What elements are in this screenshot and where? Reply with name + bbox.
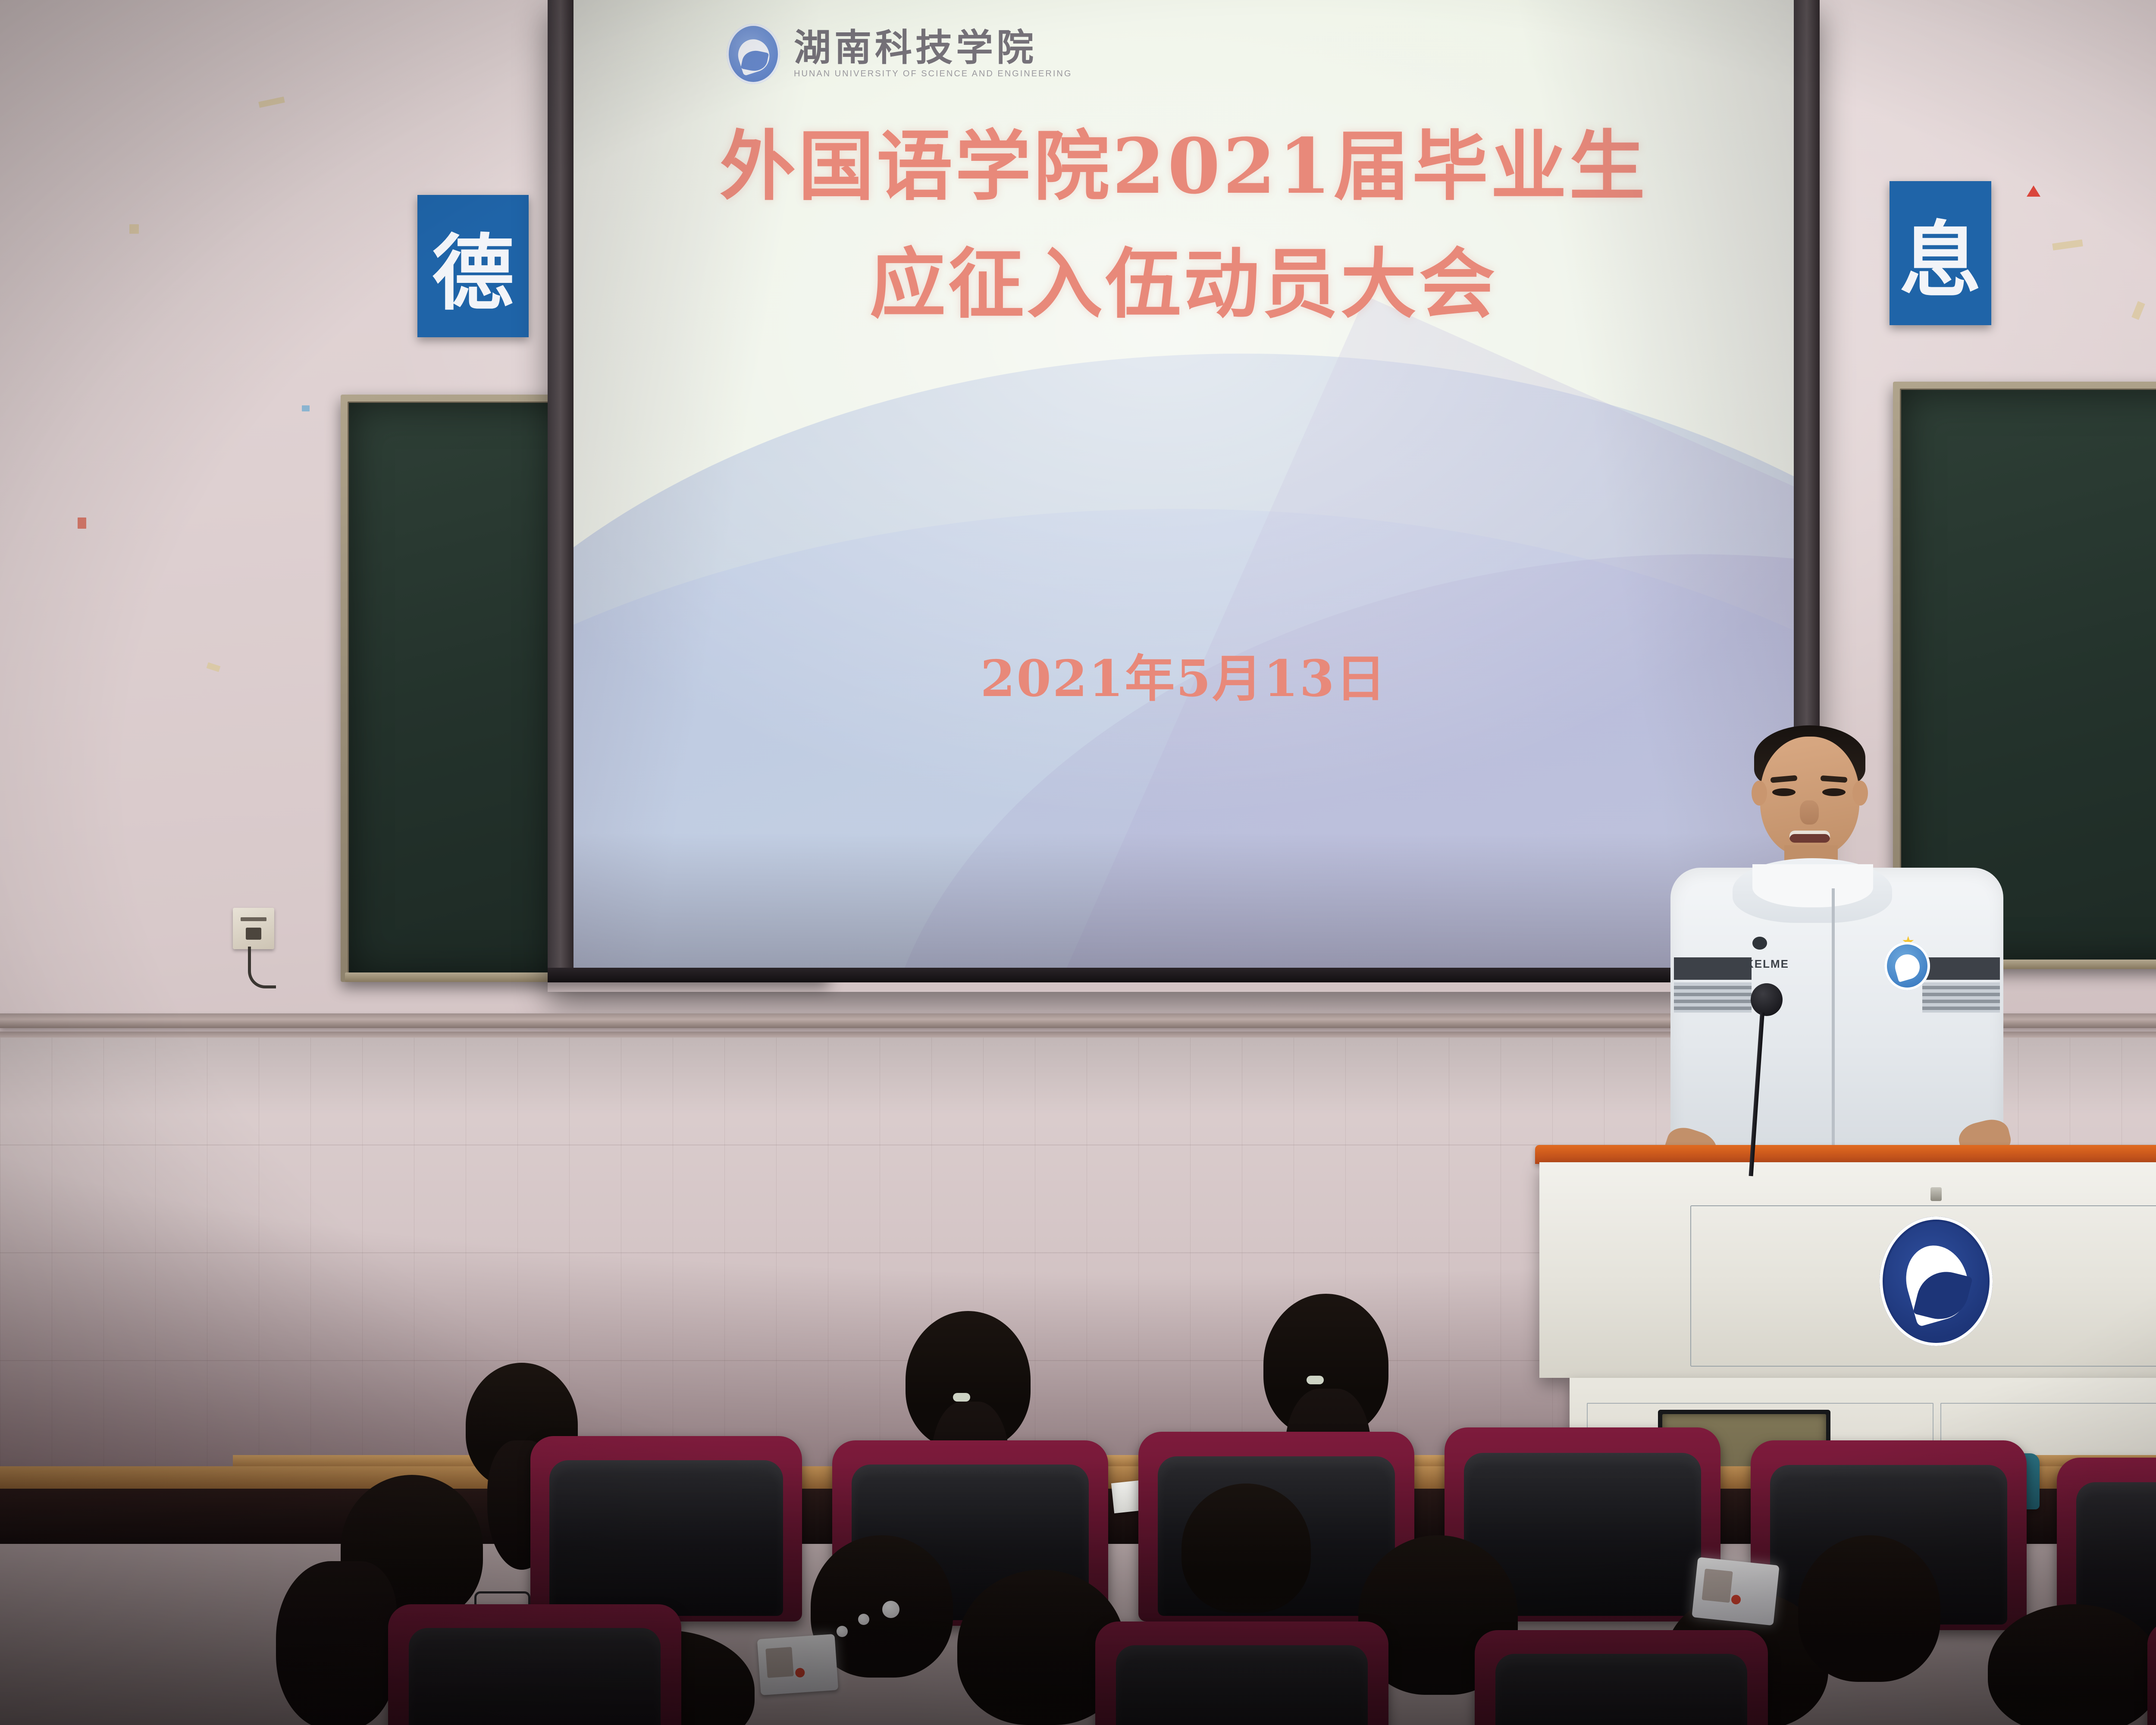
speaker-sleeve-band-right xyxy=(1922,957,2000,980)
chair-cushion xyxy=(1495,1654,1748,1725)
podium-body xyxy=(1539,1162,2156,1378)
wall-sign-xi: 息 xyxy=(1890,181,1991,325)
auditorium-chair[interactable] xyxy=(1095,1621,1388,1725)
person-hairclip xyxy=(882,1601,899,1618)
person-hairclip xyxy=(858,1614,869,1625)
person-hair xyxy=(276,1561,397,1725)
person-head xyxy=(1181,1483,1311,1613)
wall-sign-xi-text: 息 xyxy=(1899,194,1981,313)
speaker-sleeve-band-left xyxy=(1674,957,1752,980)
wall-outlet[interactable] xyxy=(233,908,274,949)
kelme-paw-icon xyxy=(1752,937,1767,950)
speaker-nose xyxy=(1800,800,1819,825)
tape-mark xyxy=(129,224,139,234)
lecture-hall-photo: 德 息 湖南科技学院 HUNAN UNIVERSITY OF SCIENCE A… xyxy=(0,0,2156,1725)
student-phone[interactable] xyxy=(757,1634,839,1695)
person-head xyxy=(1798,1535,1940,1682)
auditorium-chair[interactable] xyxy=(1475,1630,1768,1725)
university-seal-icon xyxy=(727,24,780,84)
auditorium-chair[interactable] xyxy=(530,1436,802,1621)
speaker-mouth xyxy=(1789,831,1830,843)
podium-top-trim xyxy=(1535,1145,2156,1164)
outlet-hole xyxy=(246,928,261,940)
speaker-eye-left xyxy=(1772,788,1796,796)
audience-person xyxy=(1798,1535,1940,1682)
podium-lock-icon[interactable] xyxy=(1930,1187,1942,1201)
slide-wave-3 xyxy=(816,463,1794,968)
screen-bottom-bar xyxy=(548,968,1820,982)
chair-cushion xyxy=(409,1628,661,1725)
wall-sign-de: 德 xyxy=(417,195,529,337)
slide-wave-2 xyxy=(573,509,1794,968)
projection-screen: 湖南科技学院 HUNAN UNIVERSITY OF SCIENCE AND E… xyxy=(548,0,1820,992)
slide-title-line2: 应征入伍动员大会 xyxy=(573,226,1794,343)
slide-title: 外国语学院2021届毕业生 应征入伍动员大会 xyxy=(573,108,1794,343)
triangle-sticker-icon xyxy=(2027,185,2040,197)
chair-cushion xyxy=(1116,1645,1368,1725)
presentation-slide: 湖南科技学院 HUNAN UNIVERSITY OF SCIENCE AND E… xyxy=(573,0,1794,968)
speaker-ear-left xyxy=(1752,781,1767,806)
phone-record-dot xyxy=(795,1668,805,1678)
jacket-brand-text: KELME xyxy=(1745,957,1789,971)
person-hairtie xyxy=(953,1393,970,1402)
speaker-eye-right xyxy=(1822,788,1846,796)
person-hairclip xyxy=(837,1626,848,1637)
student-phone-2[interactable] xyxy=(1692,1557,1780,1625)
person-head xyxy=(1988,1604,2156,1725)
paint-speck xyxy=(302,405,310,411)
speaker-sleeve-stripe-left xyxy=(1674,982,1752,1013)
speaker-person: ★ KELME xyxy=(1660,716,2014,1160)
paint-speck xyxy=(78,517,86,529)
slide-date: 2021年5月13日 xyxy=(573,638,1794,711)
screen-edge-left xyxy=(548,0,573,975)
speaker-ear-right xyxy=(1852,781,1868,806)
speaker-jacket-zipper xyxy=(1832,888,1835,1156)
auditorium-chair[interactable] xyxy=(2147,1621,2156,1725)
podium-university-seal-icon xyxy=(1880,1217,1993,1346)
audience-person xyxy=(1181,1483,1311,1613)
audience-person xyxy=(1988,1604,2156,1725)
speaker-sleeve-stripe-right xyxy=(1922,982,2000,1013)
phone-record-dot xyxy=(1731,1595,1741,1605)
chair-cushion xyxy=(549,1460,783,1616)
speaker-collar xyxy=(1752,864,1873,907)
slide-title-line1: 外国语学院2021届毕业生 xyxy=(573,108,1794,226)
microphone-head[interactable] xyxy=(1751,983,1783,1016)
slide-university-logo: 湖南科技学院 HUNAN UNIVERSITY OF SCIENCE AND E… xyxy=(727,24,1072,84)
university-name-en: HUNAN UNIVERSITY OF SCIENCE AND ENGINEER… xyxy=(794,69,1072,79)
person-hairtie xyxy=(1307,1376,1324,1384)
outlet-cable xyxy=(248,947,276,988)
wall-sign-de-text: 德 xyxy=(432,207,514,326)
phone-image xyxy=(765,1647,794,1678)
outlet-slot xyxy=(241,917,266,921)
auditorium-chair[interactable] xyxy=(388,1604,681,1725)
phone-image xyxy=(1702,1568,1733,1603)
jacket-university-badge-icon xyxy=(1884,942,1930,990)
university-name-cn: 湖南科技学院 xyxy=(794,29,1072,66)
